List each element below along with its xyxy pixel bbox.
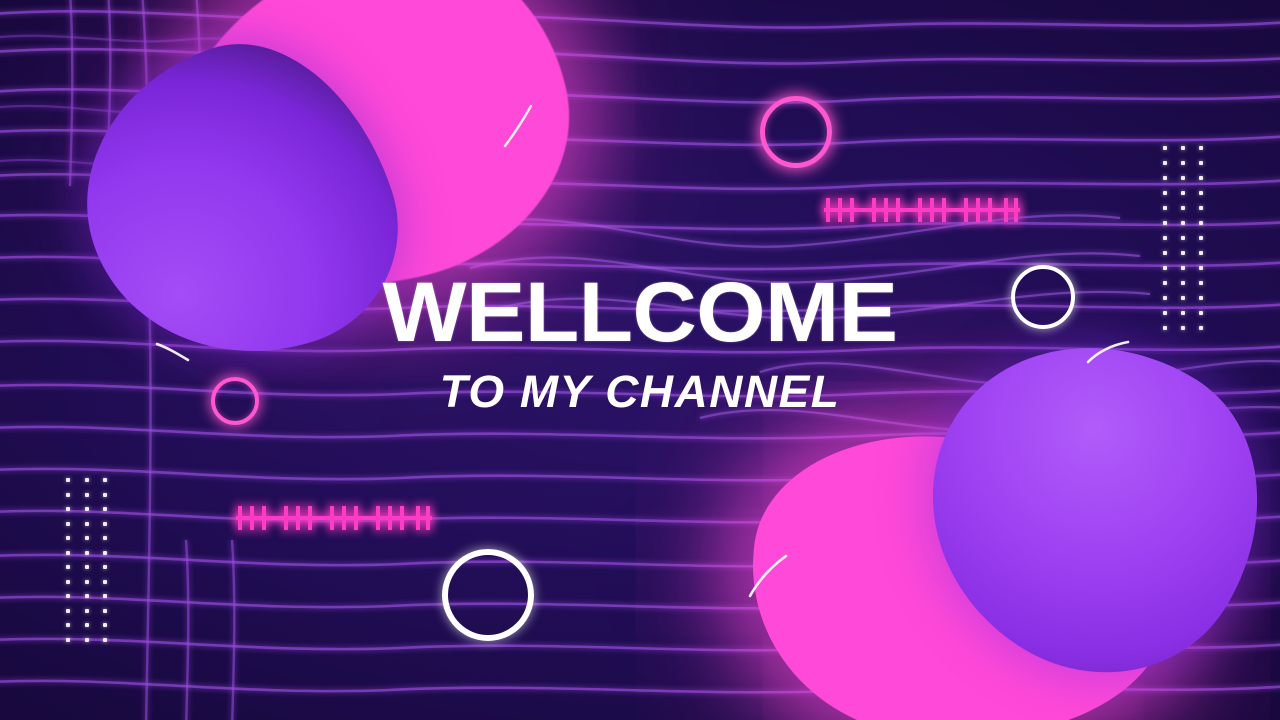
pink-blob-bottom-right [731,412,1189,720]
arc-bottom-left [750,556,786,596]
page-title: WELLCOME [0,272,1280,353]
tally-tick [1014,198,1018,222]
tally-tick [838,198,842,222]
tally-tick [330,506,334,530]
tally-tick [896,198,900,222]
tally-tick [284,506,288,530]
tally-tick [1004,198,1008,222]
tally-tick [976,198,980,222]
tally-tick [416,506,420,530]
tally-tick [884,198,888,222]
tally-bottom-left [236,505,432,531]
tally-tick [250,506,254,530]
ring-white-bottom [442,549,534,641]
tally-tick [942,198,946,222]
arc-top-left [505,106,531,146]
tally-tick [850,198,854,222]
tally-tick [262,506,266,530]
tally-tick [308,506,312,530]
page-subtitle: TO MY CHANNEL [0,369,1280,414]
tally-tick [400,506,404,530]
tally-tick [930,198,934,222]
tally-top-right [824,197,1020,223]
ring-pink-top [760,96,832,168]
dot-grid-left [66,478,122,652]
title-block: WELLCOME TO MY CHANNEL [0,272,1280,414]
tally-tick [342,506,346,530]
tally-tick [354,506,358,530]
tally-tick [964,198,968,222]
tally-tick [988,198,992,222]
tally-tick [872,198,876,222]
tally-tick [918,198,922,222]
tally-tick [376,506,380,530]
tally-tick [296,506,300,530]
tally-tick [426,506,430,530]
banner-canvas: WELLCOME TO MY CHANNEL [0,0,1280,720]
tally-tick [238,506,242,530]
tally-tick [388,506,392,530]
tally-tick [826,198,830,222]
